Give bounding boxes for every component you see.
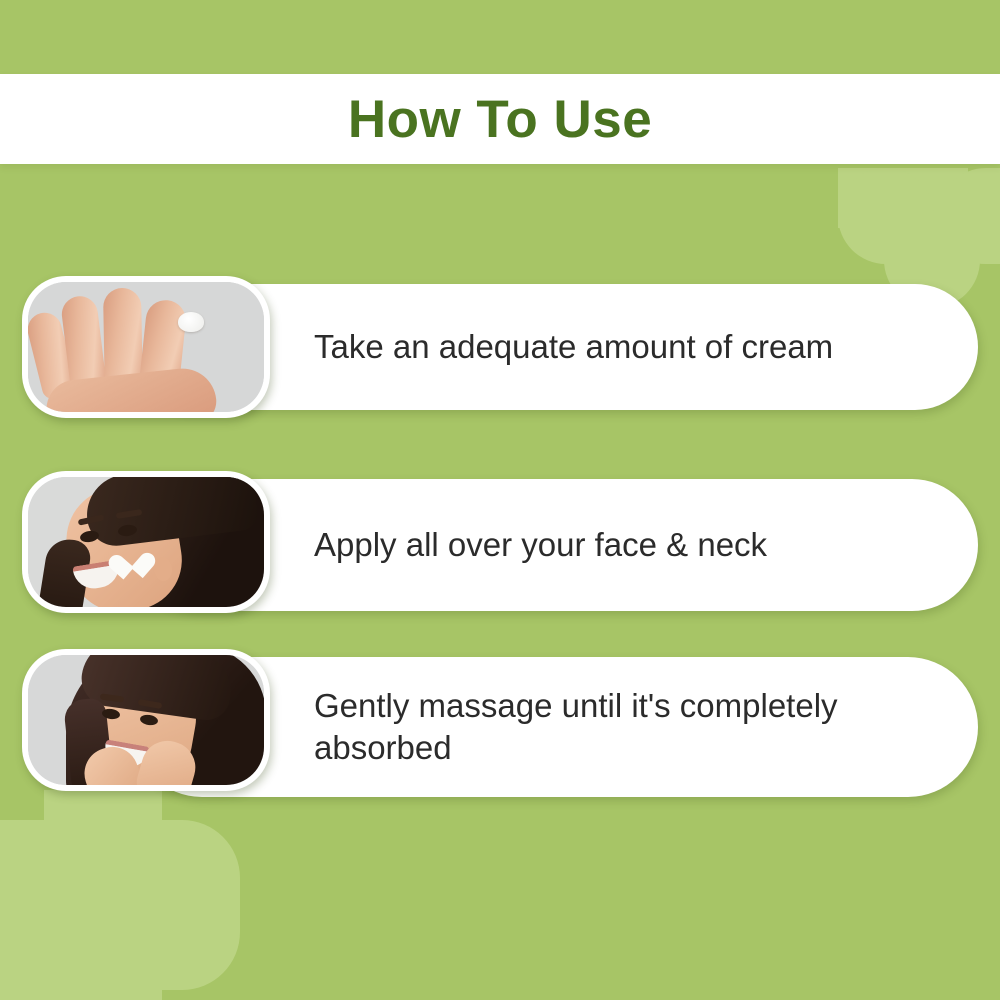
step-text-1: Take an adequate amount of cream [314,326,833,368]
step-thumbnail-3 [22,649,270,791]
decorative-blob-top-right-1 [838,168,934,264]
page-title: How To Use [348,93,652,146]
cream-heart-icon [119,548,151,578]
step-text-2: Apply all over your face & neck [314,524,767,566]
step-text-3: Gently massage until it's completely abs… [314,685,932,769]
decorative-blob-bottom-left-1 [0,820,240,990]
step-thumbnail-2 [22,471,270,613]
header-band: How To Use [0,74,1000,164]
decorative-blob-top-right-2 [938,168,1000,264]
decorative-blob-bottom-left-2 [44,790,162,1000]
hand-with-cream-dab-photo [28,282,264,412]
step-thumbnail-1 [22,276,270,418]
how-to-use-poster: How To Use Take an adequate amount of cr… [0,0,1000,1000]
decorative-blob-top-right-fill [838,168,968,228]
woman-applying-cream-on-cheek-photo [28,477,264,607]
cream-dab-icon [178,312,204,332]
decorative-blob-bottom-left-3 [44,978,162,1000]
woman-massaging-face-photo [28,655,264,785]
decorative-blob-bottom-left-fill [0,930,160,1000]
